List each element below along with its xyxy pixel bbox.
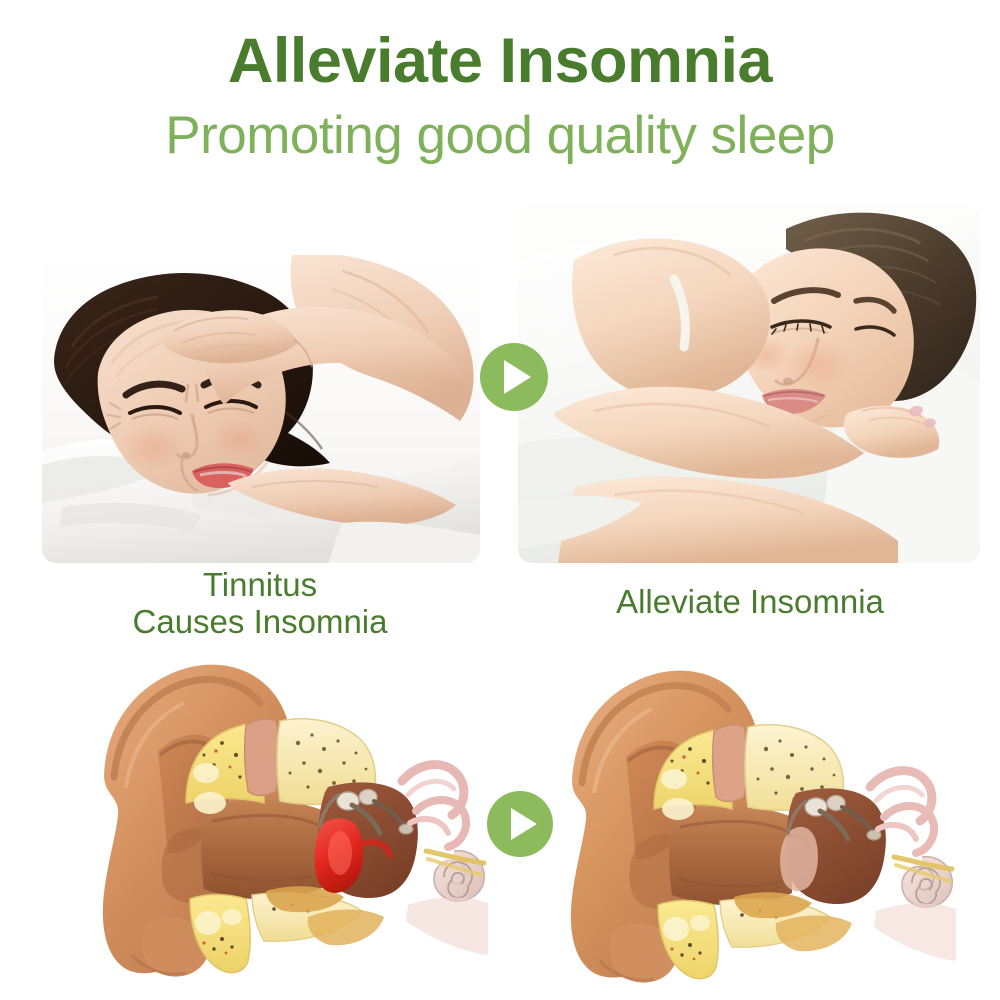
caption-before-line2: Causes Insomnia — [30, 603, 490, 640]
header: Alleviate Insomnia Promoting good qualit… — [0, 0, 1000, 162]
caption-after-line1: Alleviate Insomnia — [520, 583, 980, 620]
ear-anatomy-healthy-illustration — [528, 655, 990, 990]
caption-before-top: Tinnitus Causes Insomnia — [30, 566, 490, 641]
before-photo-illustration — [42, 255, 480, 563]
page-subtitle: Promoting good quality sleep — [0, 93, 1000, 162]
play-triangle-icon — [504, 360, 531, 394]
play-triangle-icon — [511, 808, 537, 840]
caption-after-top: Alleviate Insomnia — [520, 583, 980, 620]
infographic-page: Alleviate Insomnia Promoting good qualit… — [0, 0, 1000, 1000]
ear-anatomy-inflamed-illustration — [8, 655, 488, 990]
after-photo-restful-sleep[interactable] — [518, 205, 980, 563]
caption-before-line1: Tinnitus — [30, 566, 490, 603]
after-photo-illustration — [518, 205, 980, 563]
after-ear-diagram-healthy[interactable] — [528, 655, 990, 990]
transition-arrow-top[interactable] — [480, 343, 548, 411]
transition-arrow-bottom[interactable] — [487, 791, 553, 857]
before-ear-diagram-tinnitus[interactable] — [8, 655, 488, 990]
before-photo-insomnia[interactable] — [42, 255, 480, 563]
page-title: Alleviate Insomnia — [0, 0, 1000, 93]
